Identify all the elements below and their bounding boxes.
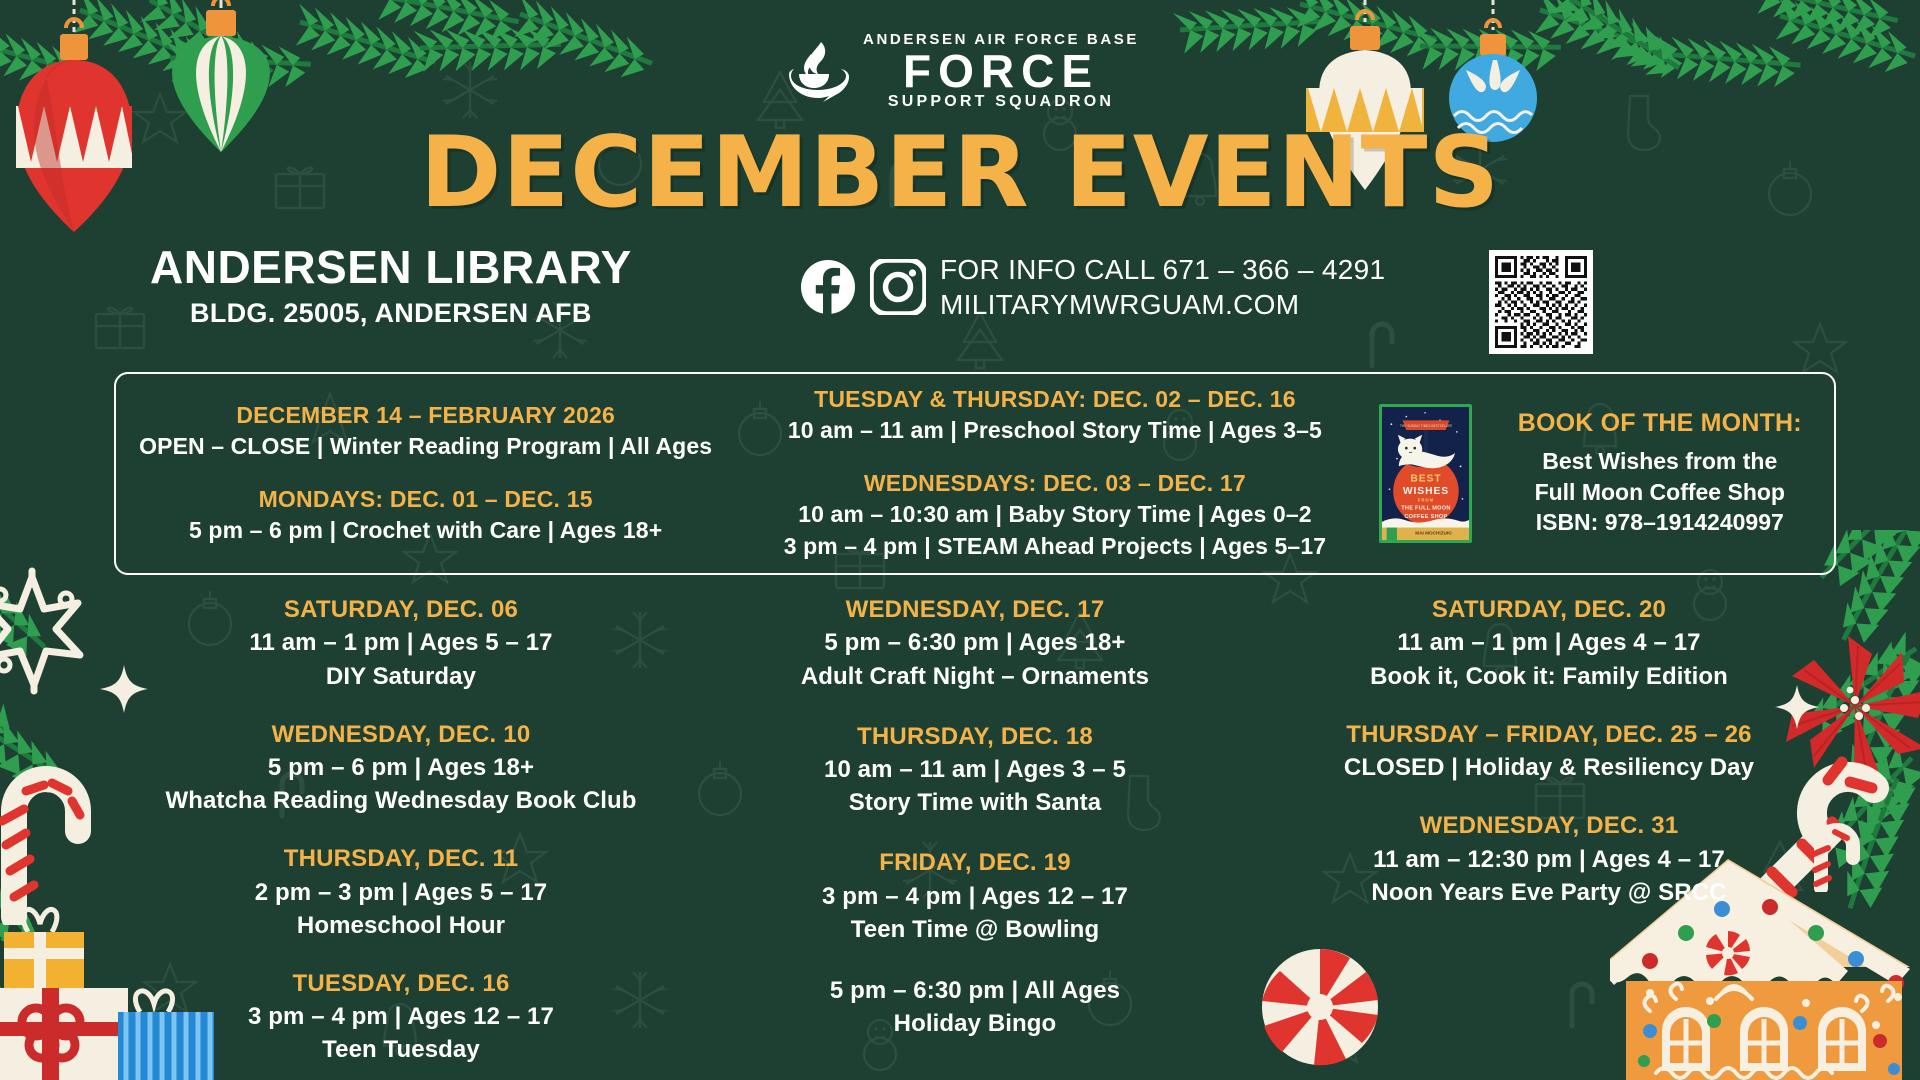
events-column-2: WEDNESDAY, DEC. 17 5 pm – 6:30 pm | Ages…: [688, 594, 1262, 1080]
event-title: DIY Saturday: [114, 660, 688, 693]
flame-cup-icon: [781, 40, 851, 102]
qr-code[interactable]: [1489, 250, 1593, 354]
contact-block: FOR INFO CALL 671 – 366 – 4291 MILITARYM…: [800, 252, 1385, 322]
svg-text:THE FULL MOON: THE FULL MOON: [1401, 505, 1451, 511]
event-detail: 3 pm – 4 pm | Ages 12 – 17: [688, 880, 1262, 913]
event-item: THURSDAY – FRIDAY, DEC. 25 – 26 CLOSED |…: [1262, 719, 1836, 785]
facebook-icon[interactable]: [800, 259, 856, 315]
event-title: Teen Tuesday: [114, 1033, 688, 1066]
event-date: SATURDAY, DEC. 20: [1262, 594, 1836, 626]
event-date: DECEMBER 14 – FEBRUARY 2026: [116, 400, 735, 431]
event-title: Whatcha Reading Wednesday Book Club: [114, 784, 688, 817]
event-date: THURSDAY, DEC. 18: [688, 721, 1262, 753]
recurring-item: TUESDAY & THURSDAY: DEC. 02 – DEC. 16 10…: [735, 384, 1374, 447]
event-detail: 3 pm – 4 pm | Ages 12 – 17: [114, 1000, 688, 1033]
event-item: THURSDAY, DEC. 11 2 pm – 3 pm | Ages 5 –…: [114, 843, 688, 942]
event-date: WEDNESDAY, DEC. 31: [1262, 810, 1836, 842]
botm-title-line-2: Full Moon Coffee Shop: [1486, 477, 1834, 507]
event-detail: 5 pm – 6:30 pm | All Ages: [688, 974, 1262, 1007]
book-of-the-month-block: THE SUNDAY TIMES BESTSELLER BEST WISHES …: [1375, 404, 1834, 543]
recurring-column-1: DECEMBER 14 – FEBRUARY 2026 OPEN – CLOSE…: [116, 400, 735, 547]
page-title: DECEMBER EVENTS: [0, 124, 1920, 222]
event-item: FRIDAY, DEC. 19 3 pm – 4 pm | Ages 12 – …: [688, 847, 1262, 946]
botm-isbn: ISBN: 978–1914240997: [1486, 507, 1834, 537]
events-column-1: SATURDAY, DEC. 06 11 am – 1 pm | Ages 5 …: [114, 594, 688, 1080]
recurring-item: DECEMBER 14 – FEBRUARY 2026 OPEN – CLOSE…: [116, 400, 735, 463]
event-item: THURSDAY, DEC. 18 10 am – 11 am | Ages 3…: [688, 721, 1262, 820]
recurring-column-2: TUESDAY & THURSDAY: DEC. 02 – DEC. 16 10…: [735, 384, 1374, 562]
event-detail: 5 pm – 6:30 pm | Ages 18+: [688, 626, 1262, 659]
event-detail: 2 pm – 3 pm | Ages 5 – 17: [114, 876, 688, 909]
event-date: FRIDAY, DEC. 19: [688, 847, 1262, 879]
event-title: Book it, Cook it: Family Edition: [1262, 660, 1836, 693]
svg-text:MAI MOCHIZUKI: MAI MOCHIZUKI: [1415, 530, 1451, 536]
event-detail: 3 pm – 4 pm | STEAM Ahead Projects | Age…: [735, 531, 1374, 563]
event-date: SATURDAY, DEC. 06: [114, 594, 688, 626]
event-date: WEDNESDAY, DEC. 17: [688, 594, 1262, 626]
event-date: THURSDAY – FRIDAY, DEC. 25 – 26: [1262, 719, 1836, 751]
library-info: ANDERSEN LIBRARY BLDG. 25005, ANDERSEN A…: [150, 243, 632, 329]
recurring-item: WEDNESDAYS: DEC. 03 – DEC. 17 10 am – 10…: [735, 468, 1374, 563]
event-detail: CLOSED | Holiday & Resiliency Day: [1262, 751, 1836, 784]
events-column-3: SATURDAY, DEC. 20 11 am – 1 pm | Ages 4 …: [1262, 594, 1836, 1080]
website-line: MILITARYMWRGUAM.COM: [940, 287, 1385, 322]
event-detail: OPEN – CLOSE | Winter Reading Program | …: [116, 431, 735, 463]
poster-canvas: ANDERSEN AIR FORCE BASE FORCE SUPPORT SQ…: [0, 0, 1920, 1080]
event-item: WEDNESDAY, DEC. 31 11 am – 12:30 pm | Ag…: [1262, 810, 1836, 909]
event-title: Teen Time @ Bowling: [688, 913, 1262, 946]
event-item: WEDNESDAY, DEC. 17 5 pm – 6:30 pm | Ages…: [688, 594, 1262, 693]
botm-heading: BOOK OF THE MONTH:: [1486, 409, 1834, 438]
event-item: SATURDAY, DEC. 06 11 am – 1 pm | Ages 5 …: [114, 594, 688, 693]
event-detail: 11 am – 12:30 pm | Ages 4 – 17: [1262, 843, 1836, 876]
svg-text:BEST: BEST: [1410, 474, 1441, 485]
recurring-programs-box: DECEMBER 14 – FEBRUARY 2026 OPEN – CLOSE…: [114, 372, 1836, 575]
event-detail: 10 am – 11 am | Preschool Story Time | A…: [735, 415, 1374, 447]
instagram-icon[interactable]: [870, 259, 926, 315]
logo-line-2: FORCE: [903, 50, 1099, 92]
event-detail: 11 am – 1 pm | Ages 4 – 17: [1262, 626, 1836, 659]
library-name: ANDERSEN LIBRARY: [150, 243, 632, 291]
event-date: TUESDAY, DEC. 16: [114, 968, 688, 1000]
recurring-item: MONDAYS: DEC. 01 – DEC. 15 5 pm – 6 pm |…: [116, 484, 735, 547]
event-title: Homeschool Hour: [114, 909, 688, 942]
event-detail: 5 pm – 6 pm | Crochet with Care | Ages 1…: [116, 515, 735, 547]
event-item: 5 pm – 6:30 pm | All Ages Holiday Bingo: [688, 974, 1262, 1040]
event-detail: 11 am – 1 pm | Ages 5 – 17: [114, 626, 688, 659]
event-detail: 5 pm – 6 pm | Ages 18+: [114, 751, 688, 784]
event-title: Story Time with Santa: [688, 786, 1262, 819]
svg-text:WISHES: WISHES: [1402, 486, 1448, 497]
event-date: THURSDAY, DEC. 11: [114, 843, 688, 875]
fss-logo: ANDERSEN AIR FORCE BASE FORCE SUPPORT SQ…: [781, 32, 1139, 110]
event-date: MONDAYS: DEC. 01 – DEC. 15: [116, 484, 735, 515]
botm-title-line-1: Best Wishes from the: [1486, 446, 1834, 476]
event-item: WEDNESDAY, DEC. 10 5 pm – 6 pm | Ages 18…: [114, 719, 688, 818]
book-of-the-month-text: BOOK OF THE MONTH: Best Wishes from the …: [1486, 409, 1834, 537]
events-grid: SATURDAY, DEC. 06 11 am – 1 pm | Ages 5 …: [114, 594, 1836, 1080]
event-title: Holiday Bingo: [688, 1007, 1262, 1040]
library-address: BLDG. 25005, ANDERSEN AFB: [150, 298, 632, 329]
event-title: Adult Craft Night – Ornaments: [688, 660, 1262, 693]
event-item: TUESDAY, DEC. 16 3 pm – 4 pm | Ages 12 –…: [114, 968, 688, 1067]
event-date: WEDNESDAY, DEC. 10: [114, 719, 688, 751]
svg-text:FROM: FROM: [1417, 498, 1433, 503]
event-date: TUESDAY & THURSDAY: DEC. 02 – DEC. 16: [735, 384, 1374, 415]
svg-text:THE SUNDAY TIMES BESTSELLER: THE SUNDAY TIMES BESTSELLER: [1400, 424, 1453, 428]
phone-line: FOR INFO CALL 671 – 366 – 4291: [940, 252, 1385, 287]
event-detail: 10 am – 10:30 am | Baby Story Time | Age…: [735, 499, 1374, 531]
event-date: WEDNESDAYS: DEC. 03 – DEC. 17: [735, 468, 1374, 499]
logo-line-3: SUPPORT SQUADRON: [888, 93, 1114, 111]
book-cover-image: THE SUNDAY TIMES BESTSELLER BEST WISHES …: [1379, 404, 1472, 543]
event-title: Noon Years Eve Party @ SRCC: [1262, 876, 1836, 909]
event-detail: 10 am – 11 am | Ages 3 – 5: [688, 753, 1262, 786]
event-item: SATURDAY, DEC. 20 11 am – 1 pm | Ages 4 …: [1262, 594, 1836, 693]
